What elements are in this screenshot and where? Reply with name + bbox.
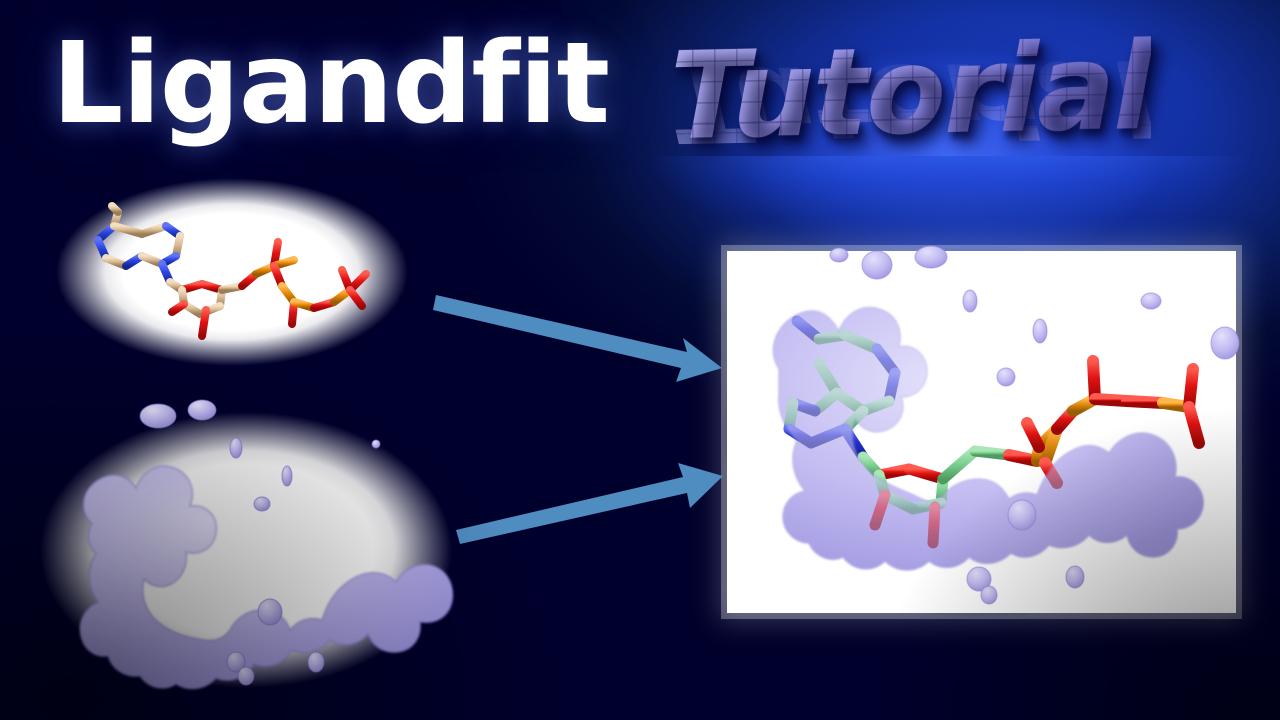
slide-root: Tutorial Tutorial: [0, 0, 1280, 720]
fitted-ligand-svg: [727, 251, 1236, 613]
tutorial-block-text: Tutorial: [670, 16, 1151, 166]
density-surface-front: [773, 307, 1203, 570]
density-map-svg: [40, 412, 452, 688]
ligand-structure: [56, 178, 408, 366]
tutorial-3d-text: Tutorial Tutorial: [650, 8, 1280, 258]
result-panel: [727, 251, 1236, 613]
tutorial-reflective-floor: [650, 156, 1280, 258]
fitted-ligand-in-density: [727, 251, 1236, 613]
electron-density-map: [40, 412, 452, 688]
ligand-structure-svg: [56, 178, 408, 366]
page-title: Ligandfit: [52, 26, 609, 144]
